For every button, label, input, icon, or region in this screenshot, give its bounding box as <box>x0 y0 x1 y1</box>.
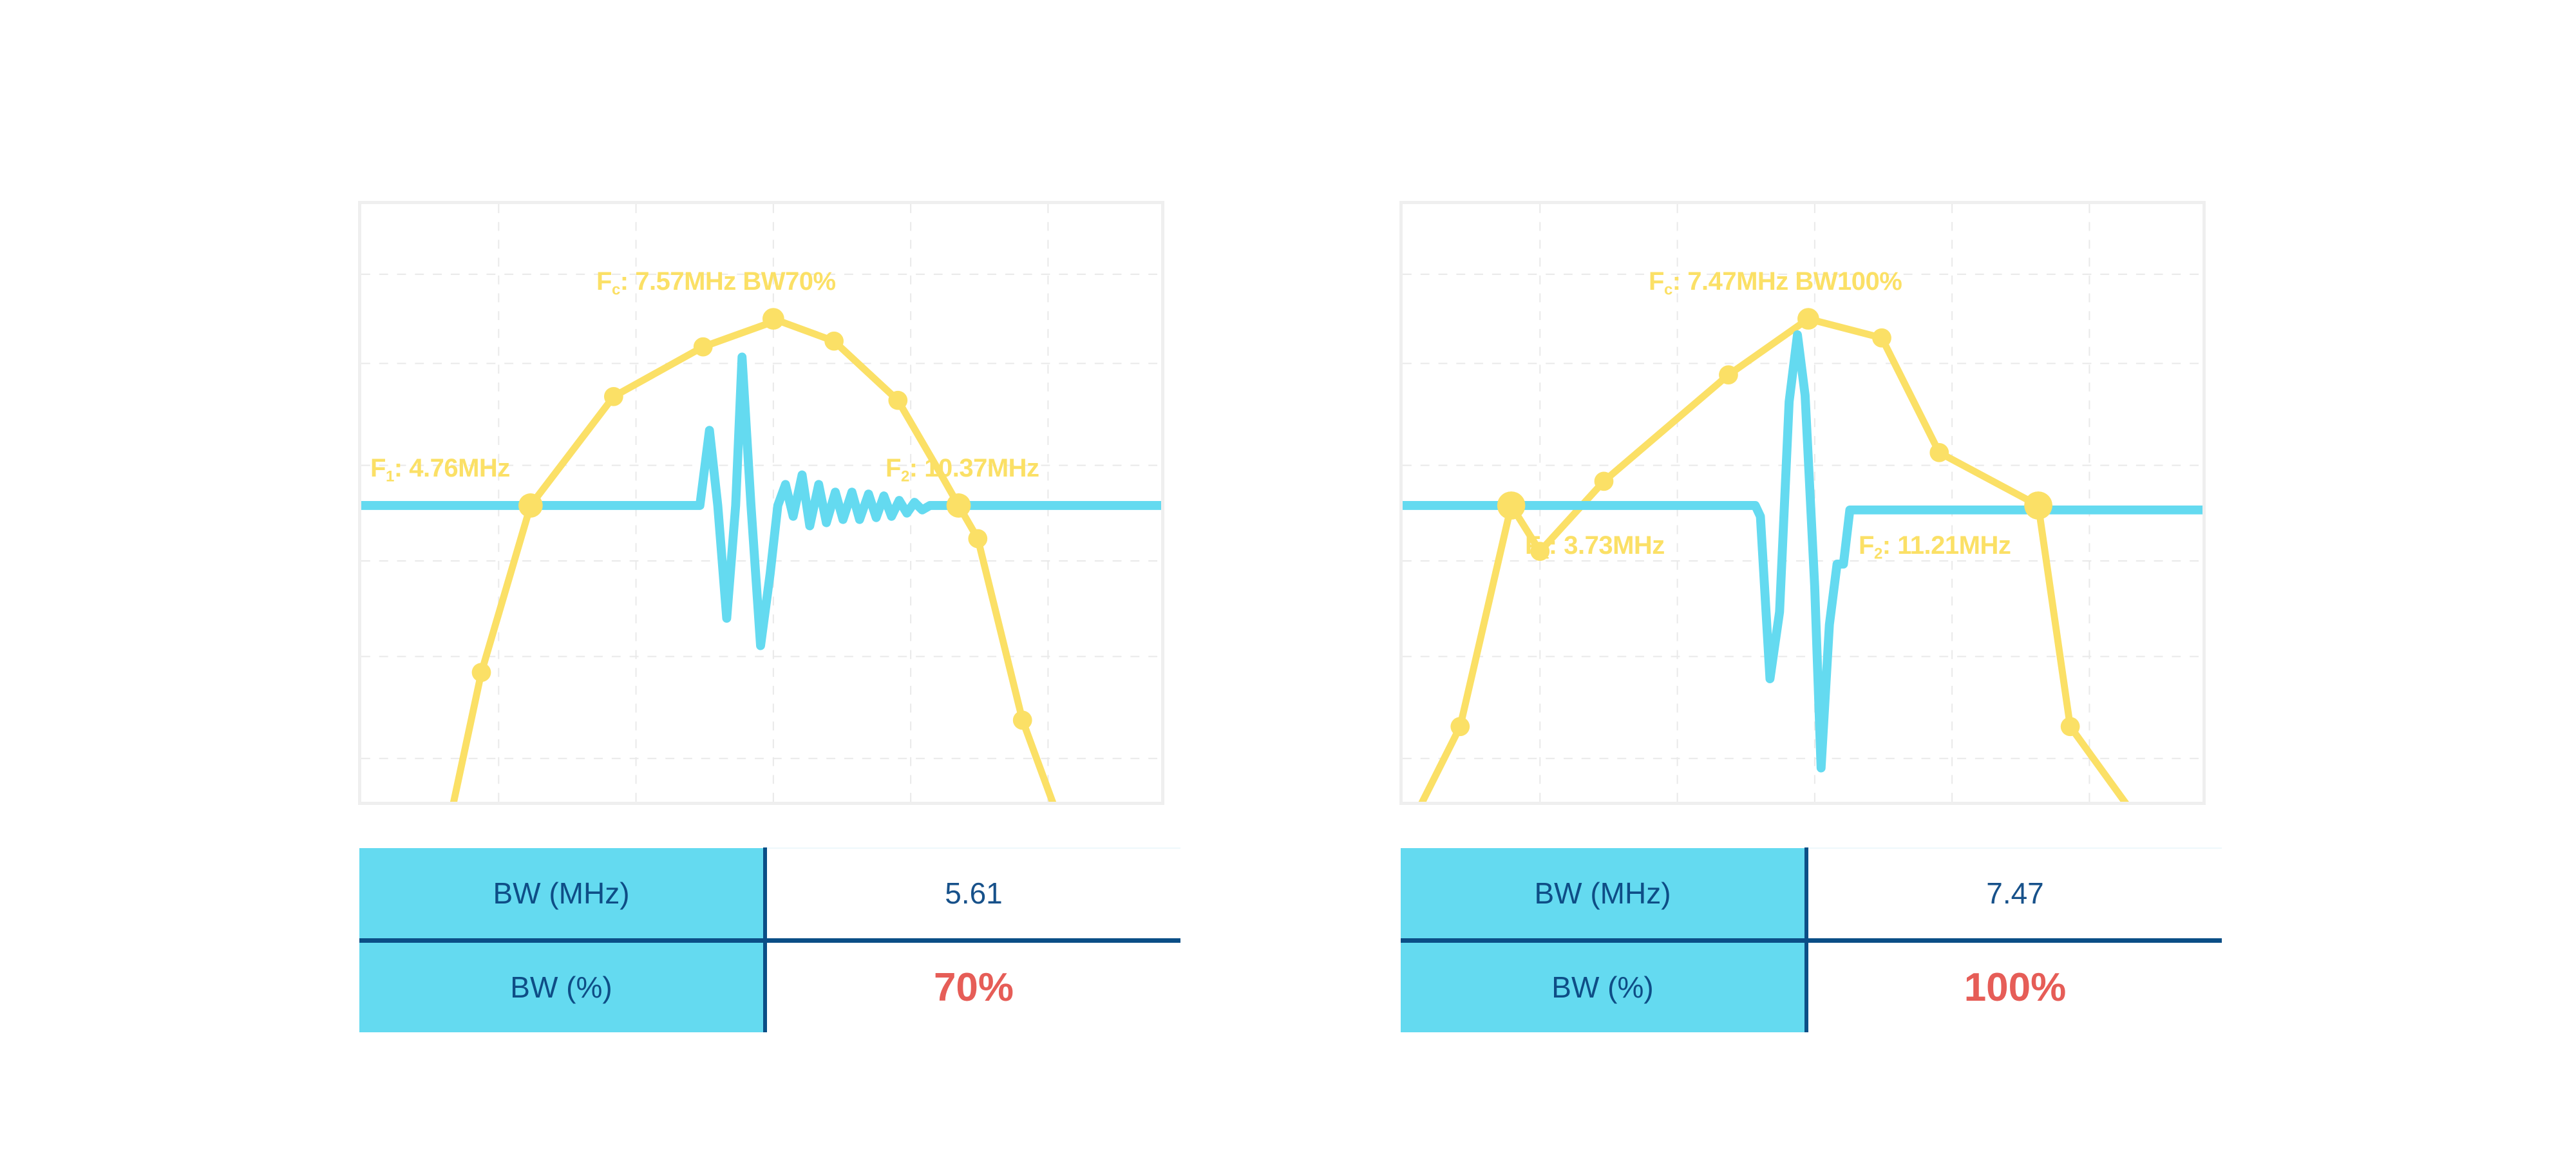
bw-pct-label: BW (%) <box>359 940 765 1032</box>
bw-mhz-label: BW (MHz) <box>1401 848 1806 940</box>
bw-mhz-value: 5.61 <box>945 876 1003 910</box>
label-f2-text: : 10.37MHz <box>909 454 1039 482</box>
bw-pct-value: 100% <box>1964 965 2067 1010</box>
bw-mhz-label: BW (MHz) <box>359 848 765 940</box>
label-fc-text: : 7.47MHz BW100% <box>1672 267 1902 296</box>
table-row: BW (%) 100% <box>1401 940 2222 1032</box>
figure-root: Fc: 7.57MHz BW70% F1: 4.76MHz F2: 10.37M… <box>0 0 2576 1154</box>
label-fc-text: : 7.57MHz BW70% <box>620 267 836 296</box>
label-f2-prefix: F <box>1859 531 1874 560</box>
bw-table-right: BW (MHz) 7.47 BW (%) 100% <box>1401 847 2222 1032</box>
bw-mhz-value-cell: 7.47 <box>1806 848 2222 940</box>
chart-right: Fc: 7.47MHz BW100% F1: 3.73MHz F2: 11.21… <box>1399 201 2206 805</box>
bw-mhz-value: 7.47 <box>1986 876 2044 910</box>
bw-pct-label: BW (%) <box>1401 940 1806 1032</box>
table-row: BW (MHz) 7.47 <box>1401 848 2222 940</box>
label-fc-prefix: F <box>1649 267 1664 296</box>
label-f1-prefix: F <box>370 454 386 482</box>
label-f2-right: F2: 11.21MHz <box>1859 531 2011 563</box>
label-f2-text: : 11.21MHz <box>1882 531 2011 560</box>
bw-pct-value-cell: 100% <box>1806 940 2222 1032</box>
label-fc-subscript: c <box>1664 281 1672 299</box>
label-f1-text: : 3.73MHz <box>1549 531 1665 560</box>
bw-pct-value: 70% <box>934 965 1014 1010</box>
label-f1-subscript: 1 <box>1540 545 1549 563</box>
pulse-waveform-right <box>1403 335 2202 768</box>
label-center-frequency-left: Fc: 7.57MHz BW70% <box>596 267 836 299</box>
label-center-frequency-right: Fc: 7.47MHz BW100% <box>1649 267 1902 299</box>
label-f2-left: F2: 10.37MHz <box>885 454 1039 486</box>
label-f1-prefix: F <box>1525 531 1540 560</box>
label-f1-text: : 4.76MHz <box>394 454 510 482</box>
label-f1-subscript: 1 <box>386 468 394 486</box>
label-f2-subscript: 2 <box>1874 545 1882 563</box>
label-f1-right: F1: 3.73MHz <box>1525 531 1665 563</box>
label-f2-prefix: F <box>885 454 901 482</box>
panel-right: Fc: 7.47MHz BW100% F1: 3.73MHz F2: 11.21… <box>1041 0 2329 1154</box>
label-f1-left: F1: 4.76MHz <box>370 454 510 486</box>
label-fc-subscript: c <box>612 281 620 299</box>
label-f2-subscript: 2 <box>901 468 909 486</box>
label-fc-prefix: F <box>596 267 612 296</box>
